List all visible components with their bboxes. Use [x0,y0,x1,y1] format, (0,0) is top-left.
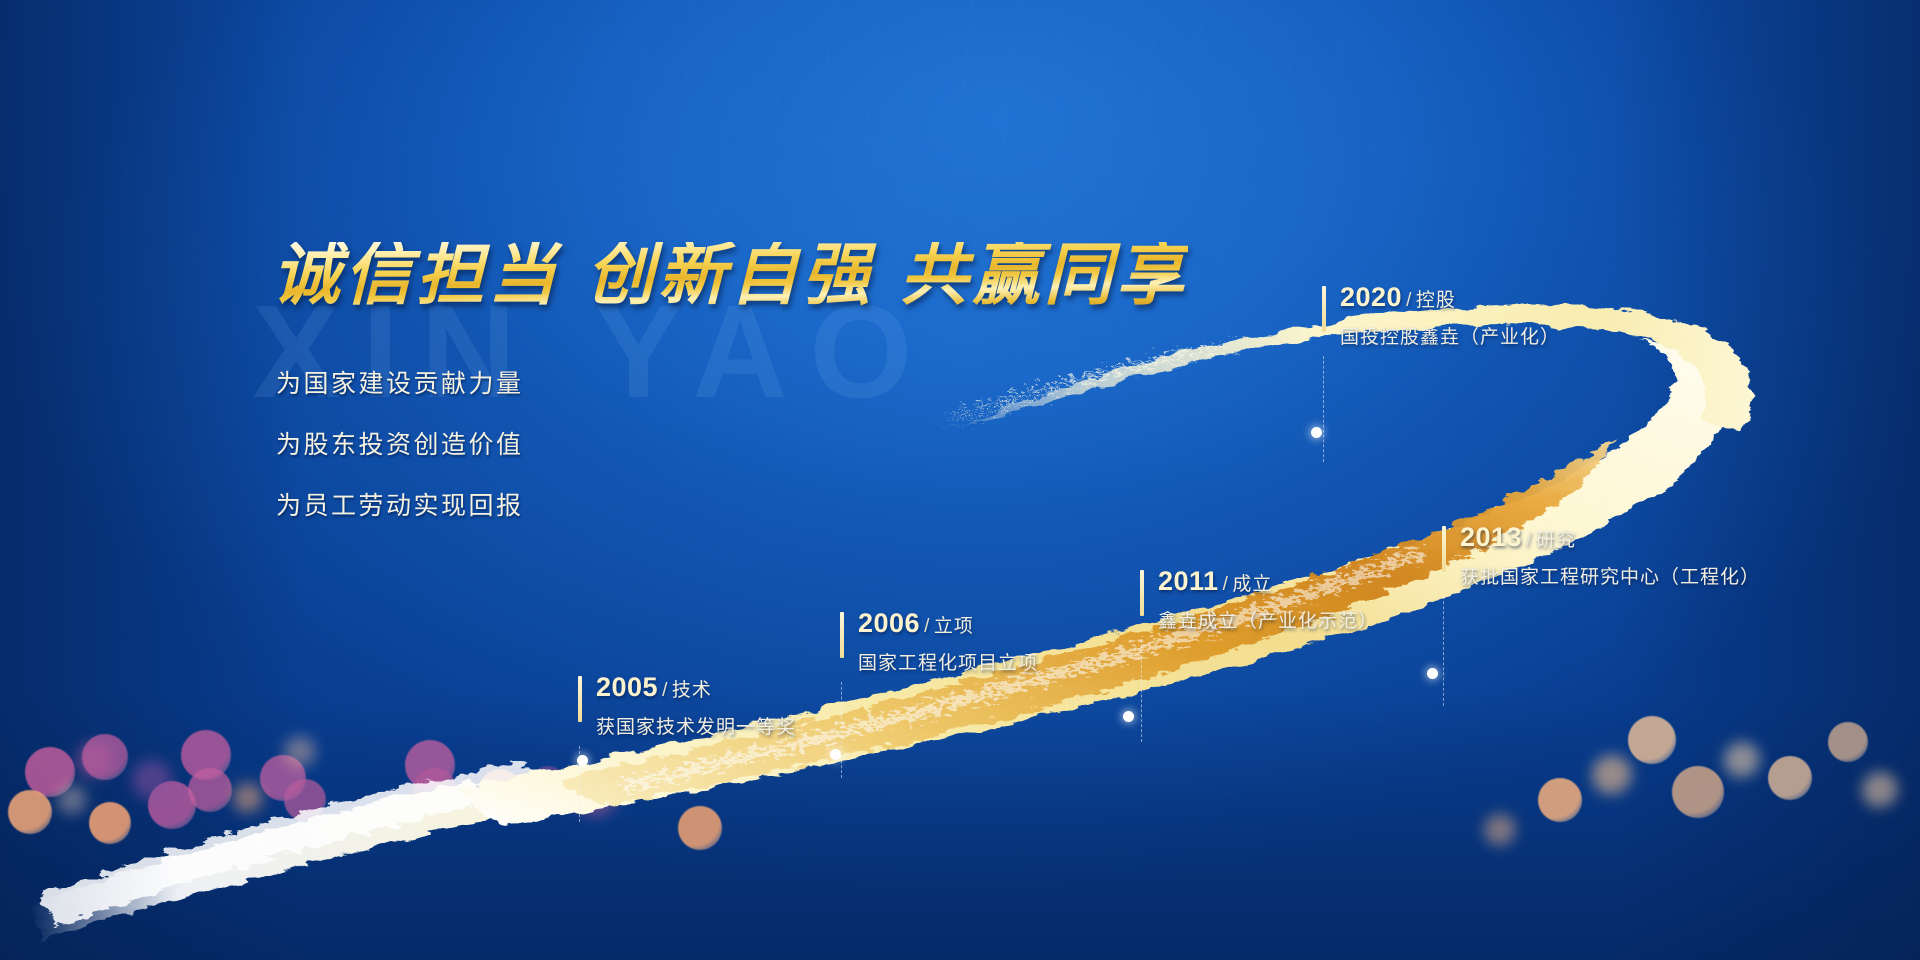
timeline-dot-2005[interactable] [577,755,588,766]
timeline-dot-2006[interactable] [830,749,841,760]
subline-3: 为员工劳动实现回报 [276,486,524,522]
timeline-description: 获批国家工程研究中心（工程化） [1460,562,1760,589]
timeline-category: 控股 [1416,290,1456,311]
timeline-description: 国投控股鑫垚（产业化） [1340,322,1560,349]
timeline-year-number: 2011 [1158,566,1219,596]
timeline-accent-bar [1322,286,1326,332]
timeline-year: 2020/控股 [1340,282,1456,313]
timeline-separator: / [658,680,672,701]
timeline-accent-bar [840,612,844,658]
timeline-category: 研究 [1536,530,1576,551]
timeline-year: 2013/研究 [1460,522,1576,553]
headline-part-2: 创新自强 [586,236,874,315]
timeline-year-number: 2020 [1340,282,1402,312]
timeline-connector-line [1141,640,1142,742]
headline-part-3: 共赢同享 [900,236,1188,315]
timeline-connector-line [1323,356,1324,462]
timeline-accent-bar [1442,526,1446,572]
subline-1: 为国家建设贡献力量 [276,364,524,400]
timeline-dot-2011[interactable] [1123,711,1134,722]
timeline-description: 国家工程化项目立项 [858,648,1038,675]
timeline-dot-2020[interactable] [1311,427,1322,438]
timeline-connector-line [841,682,842,778]
timeline-year-number: 2005 [596,672,658,702]
timeline-separator: / [1522,530,1536,551]
page-title: 诚信担当创新自强共赢同享 [272,242,1188,310]
headline-part-1: 诚信担当 [272,236,560,315]
timeline-accent-bar [1140,570,1144,616]
timeline-year: 2006/立项 [858,608,974,639]
timeline-accent-bar [578,676,582,722]
timeline-year: 2005/技术 [596,672,712,703]
timeline-connector-line [1443,596,1444,706]
timeline-category: 成立 [1232,574,1272,595]
timeline-year-number: 2013 [1460,522,1522,552]
timeline-separator: / [920,616,934,637]
timeline-category: 技术 [672,680,712,701]
timeline-separator: / [1402,290,1416,311]
timeline-year-number: 2006 [858,608,920,638]
poster-canvas: XIN YAO 诚信担当创新自强共赢同享 为国家建设贡献力量 为股东投资创造价值… [0,0,1920,960]
subline-2: 为股东投资创造价值 [276,425,524,461]
timeline-dot-2013[interactable] [1427,668,1438,679]
timeline-description: 获国家技术发明一等奖 [596,712,796,739]
timeline-year: 2011/成立 [1158,566,1272,597]
brush-stroke-swoosh [0,0,1920,960]
timeline-separator: / [1219,574,1233,595]
timeline-description: 鑫垚成立（产业化示范） [1158,606,1378,633]
timeline-category: 立项 [934,616,974,637]
